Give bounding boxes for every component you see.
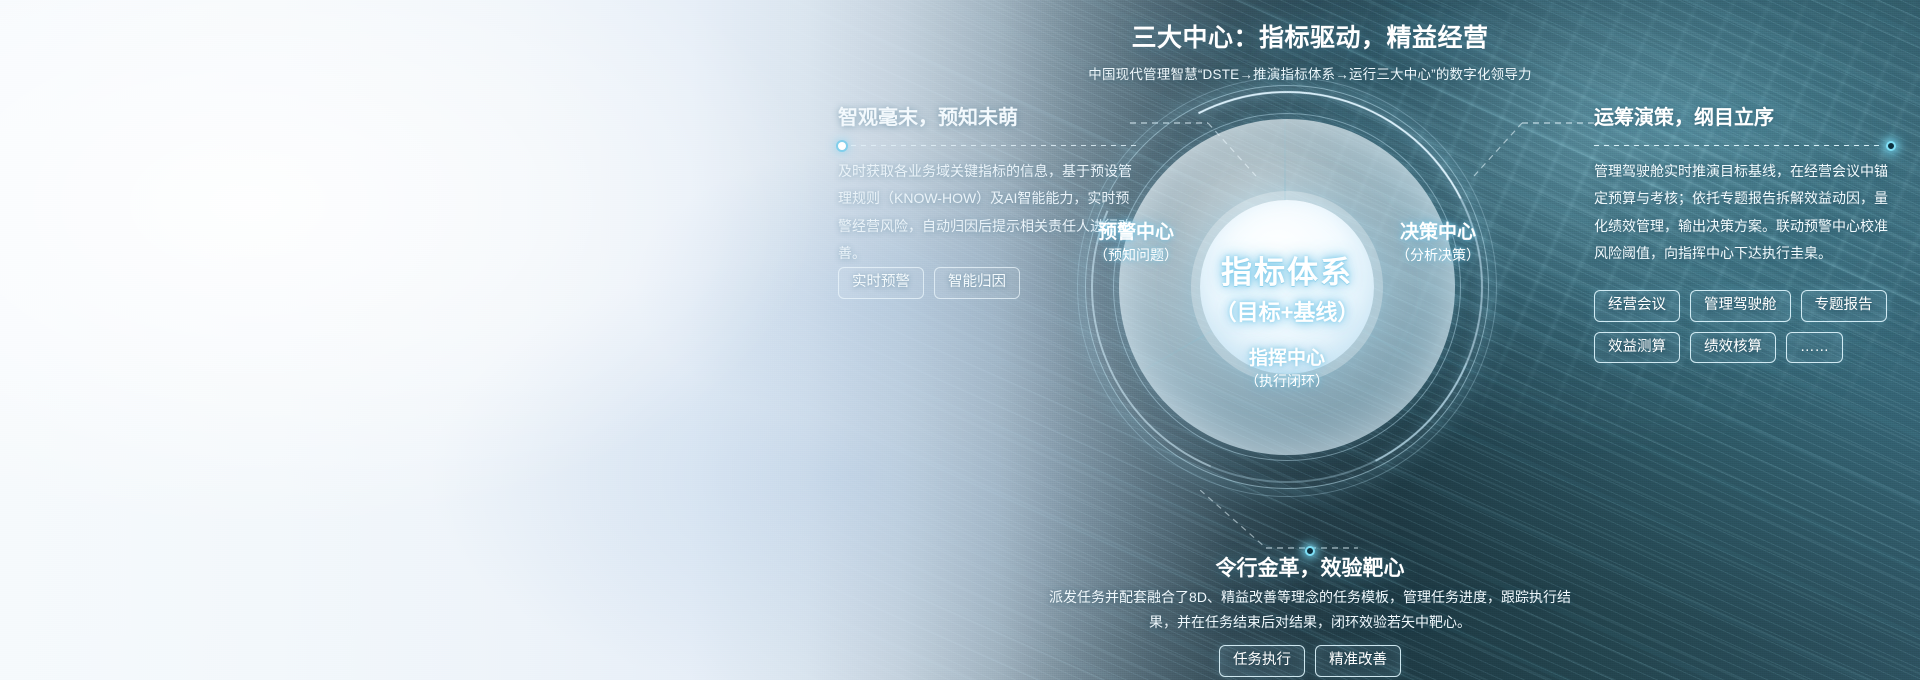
tag-item[interactable]: 经营会议 [1594,290,1680,322]
feature-left-title: 智观毫末，预知未萌 [838,106,1138,130]
tag-item[interactable]: …… [1786,332,1843,364]
feature-right-tag-list: 经营会议 管理驾驶舱 专题报告 效益测算 绩效核算 …… [1594,290,1906,363]
feature-right-title: 运筹演策，纲目立序 [1594,106,1896,130]
tag-item[interactable]: 专题报告 [1801,290,1887,322]
feature-left-divider [838,138,1138,152]
bullet-dot-icon [838,142,846,150]
tag-item[interactable]: 管理驾驶舱 [1690,290,1791,322]
feature-bottom-title: 令行金革，效验靶心 [1040,556,1580,581]
core-title: 指标体系 [1221,247,1353,292]
feature-bottom-tag-list: 任务执行 精准改善 [1040,645,1580,677]
feature-right-divider [1594,138,1896,152]
segment-warning-name: 预警中心 [1071,221,1201,245]
tag-item[interactable]: 绩效核算 [1690,332,1776,364]
feature-left-tag-list: 实时预警 智能归因 [838,267,1020,299]
segment-command-center[interactable]: 指挥中心 （执行闭环） [1222,347,1352,391]
segment-decision-sub: （分析决策） [1373,246,1503,265]
segment-command-sub: （执行闭环） [1222,372,1352,391]
header: 三大中心：指标驱动，精益经营 中国现代管理智慧“DSTE→推演指标体系→运行三大… [960,18,1660,83]
tag-item[interactable]: 任务执行 [1219,645,1305,677]
tag-item[interactable]: 精准改善 [1315,645,1401,677]
segment-decision-name: 决策中心 [1373,221,1503,245]
feature-bottom-body: 派发任务并配套融合了8D、精益改善等理念的任务模板，管理任务进度，跟踪执行结果，… [1040,585,1580,634]
feature-block-bottom: 令行金革，效验靶心 派发任务并配套融合了8D、精益改善等理念的任务模板，管理任务… [1040,556,1580,634]
tag-item[interactable]: 智能归因 [934,267,1020,299]
three-centers-diagram: 预警中心 （预知问题） 决策中心 （分析决策） 指挥中心 （执行闭环） 指标体系… [1085,85,1489,489]
feature-right-body: 管理驾驶舱实时推演目标基线，在经营会议中锚定预算与考核；依托专题报告拆解效益动因… [1594,158,1896,267]
tag-item[interactable]: 实时预警 [838,267,924,299]
page-title: 三大中心：指标驱动，精益经营 [960,18,1660,54]
segment-warning-center[interactable]: 预警中心 （预知问题） [1071,221,1201,265]
segment-decision-center[interactable]: 决策中心 （分析决策） [1373,221,1503,265]
tag-item[interactable]: 效益测算 [1594,332,1680,364]
dashed-rule [1594,145,1881,146]
segment-warning-sub: （预知问题） [1071,246,1201,265]
hero-banner: 三大中心：指标驱动，精益经营 中国现代管理智慧“DSTE→推演指标体系→运行三大… [0,0,1920,680]
core-subtitle: （目标+基线） [1215,295,1360,327]
bullet-dot-icon [1886,141,1896,151]
segment-command-name: 指挥中心 [1222,347,1352,371]
dashed-rule [851,145,1138,146]
feature-block-right: 运筹演策，纲目立序 管理驾驶舱实时推演目标基线，在经营会议中锚定预算与考核；依托… [1594,106,1896,267]
bullet-dot-icon [1305,546,1315,556]
